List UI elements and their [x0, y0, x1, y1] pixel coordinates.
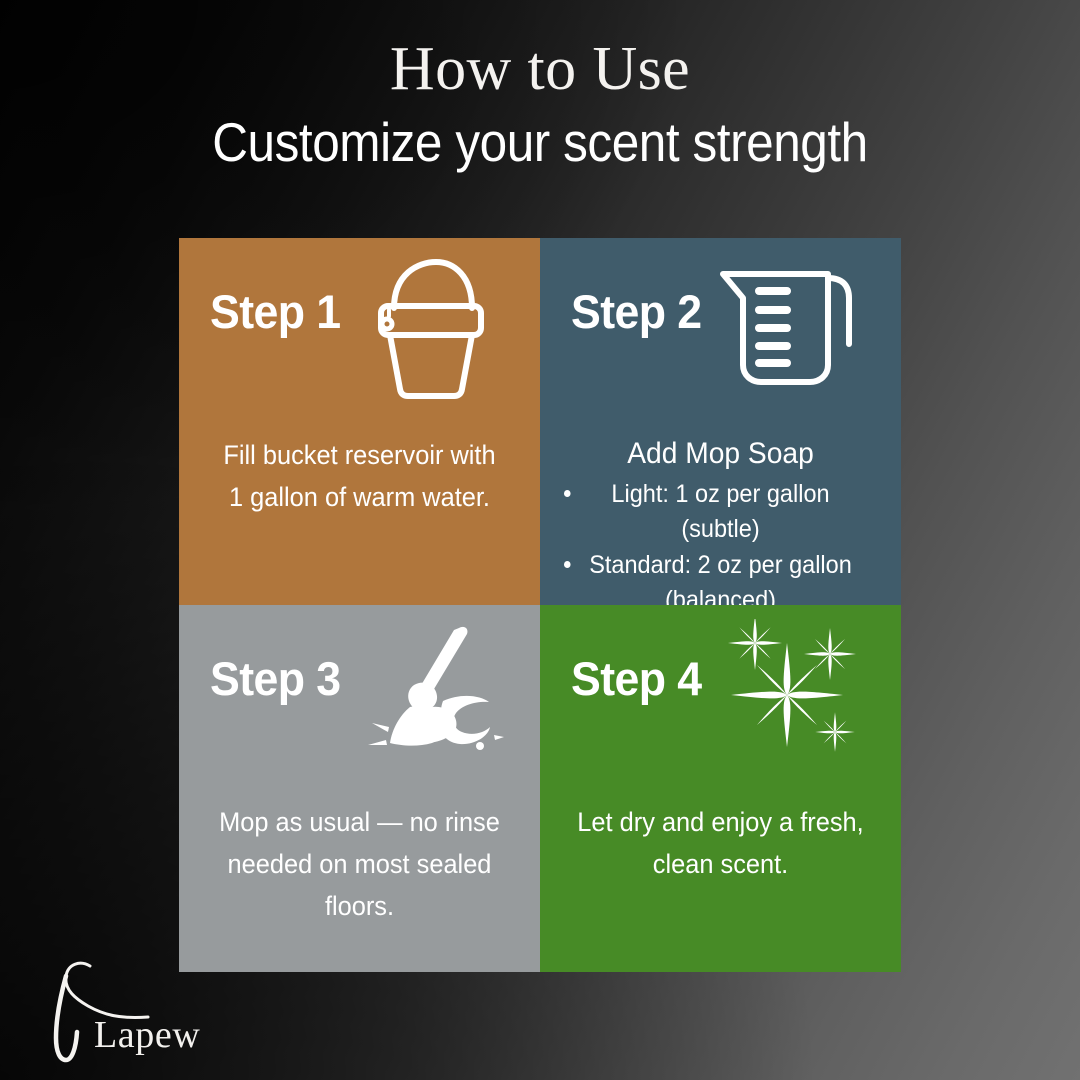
step-card-4: Step 4 [540, 605, 901, 972]
sparkles-icon [709, 619, 869, 769]
measuring-cup-icon [709, 252, 869, 402]
step-3-label: Step 3 [210, 655, 341, 702]
step-2-bullet-list: Light: 1 oz per gallon (subtle) Standard… [575, 477, 865, 606]
step-1-label: Step 1 [210, 288, 341, 335]
step-4-label: Step 4 [571, 655, 702, 702]
step-1-body: Fill bucket reservoir with 1 gallon of w… [190, 434, 529, 518]
page-subtitle: Customize your scent strength [54, 114, 1026, 172]
mop-icon [348, 619, 508, 769]
step-card-1: Step 1 Fill bucket reservoir with 1 gall… [179, 238, 540, 605]
poster-canvas: How to Use Customize your scent strength… [0, 0, 1080, 1080]
step-2-heading: Add Mop Soap [575, 434, 865, 475]
list-item: Light: 1 oz per gallon (subtle) [575, 477, 865, 548]
steps-grid: Step 1 Fill bucket reservoir with 1 gall… [179, 238, 901, 972]
brand-logo[interactable]: Lapew [32, 956, 282, 1066]
step-2-bullet-0: Light: 1 oz per gallon (subtle) [611, 480, 829, 544]
bucket-icon [348, 252, 508, 402]
step-2-label: Step 2 [571, 288, 702, 335]
step-card-3: Step 3 M [179, 605, 540, 972]
step-2-body: Add Mop Soap Light: 1 oz per gallon (sub… [551, 434, 890, 605]
step-2-bullet-1: Standard: 2 oz per gallon (balanced) [589, 551, 852, 606]
bullet-dot-icon [564, 561, 571, 568]
list-item: Standard: 2 oz per gallon (balanced) [575, 548, 865, 606]
bullet-dot-icon [564, 490, 571, 497]
step-card-2: Step 2 Add Mop Soap [540, 238, 901, 605]
poster-header: How to Use Customize your scent strength [0, 38, 1080, 172]
step-3-body: Mop as usual — no rinse needed on most s… [190, 801, 529, 927]
page-title: How to Use [0, 38, 1080, 100]
brand-wordmark: Lapew [94, 1016, 200, 1054]
step-4-body: Let dry and enjoy a fresh, clean scent. [551, 801, 890, 885]
